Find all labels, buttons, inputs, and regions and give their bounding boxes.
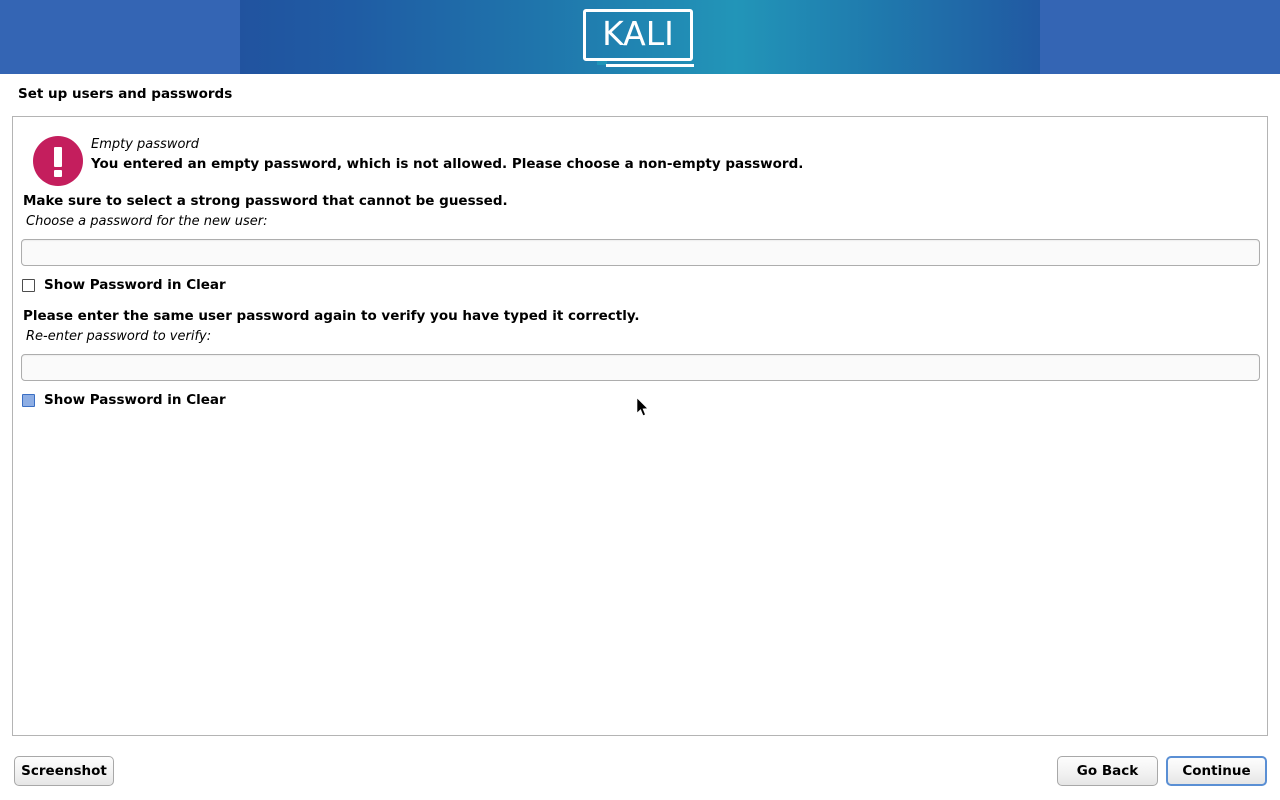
go-back-button[interactable]: Go Back (1057, 756, 1158, 786)
show-password-checkbox-1[interactable] (22, 279, 35, 292)
installer-screen: KALI Set up users and passwords Empty pa… (0, 0, 1280, 800)
error-title: Empty password (91, 137, 199, 152)
show-password-label-1: Show Password in Clear (44, 277, 226, 293)
logo-underline (606, 64, 694, 67)
mouse-arrow-cursor (637, 398, 649, 417)
continue-button[interactable]: Continue (1166, 756, 1267, 786)
show-password-checkbox-row-2[interactable]: Show Password in Clear (22, 391, 226, 409)
kali-logo: KALI (583, 9, 697, 65)
logo-text: KALI (583, 9, 693, 61)
show-password-checkbox-row-1[interactable]: Show Password in Clear (22, 276, 226, 294)
show-password-checkbox-2[interactable] (22, 394, 35, 407)
exclamation-dot (54, 170, 62, 177)
screenshot-button[interactable]: Screenshot (14, 756, 114, 786)
content-panel: Empty password You entered an empty pass… (12, 116, 1268, 736)
error-exclamation-icon (33, 136, 83, 186)
exclamation-bar (54, 147, 62, 167)
password-section-heading: Make sure to select a strong password th… (23, 193, 508, 209)
page-title: Set up users and passwords (18, 86, 232, 102)
show-password-label-2: Show Password in Clear (44, 392, 226, 408)
password-input[interactable] (21, 239, 1260, 266)
password-field-label: Choose a password for the new user: (26, 214, 268, 229)
error-message: You entered an empty password, which is … (91, 156, 803, 172)
verify-section-heading: Please enter the same user password agai… (23, 308, 640, 324)
verify-field-label: Re-enter password to verify: (26, 329, 211, 344)
verify-password-input[interactable] (21, 354, 1260, 381)
error-alert: Empty password You entered an empty pass… (21, 127, 1251, 185)
kali-banner: KALI (0, 0, 1280, 74)
